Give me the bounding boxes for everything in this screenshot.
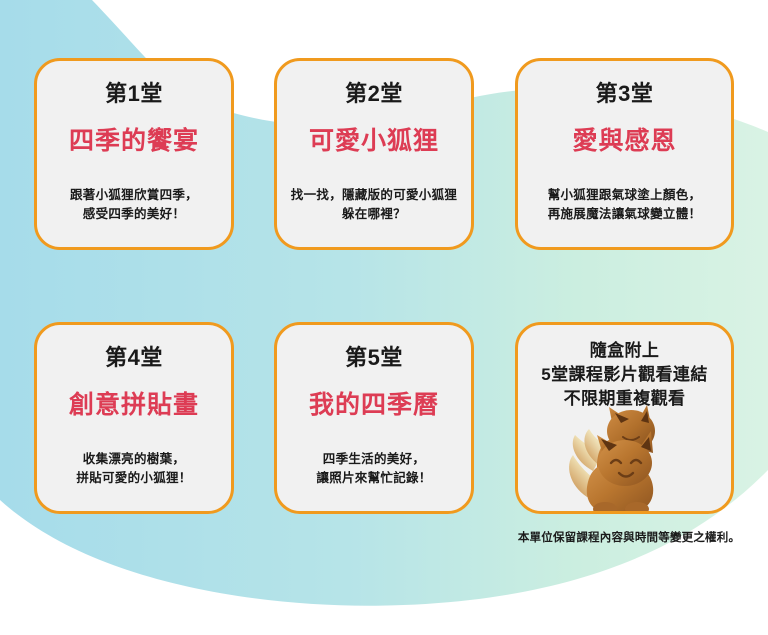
- card-2-lesson-number: 第2堂: [345, 83, 403, 105]
- disclaimer-text: 本單位保留課程內容與時間等變更之權利。: [515, 529, 743, 545]
- card-5-lesson-number: 第5堂: [345, 347, 403, 369]
- card-1-title: 四季的饗宴: [69, 127, 199, 156]
- card-3-lesson-number: 第3堂: [596, 83, 654, 105]
- course-card-1[interactable]: 第1堂 四季的饗宴 跟著小狐狸欣賞四季， 感受四季的美好！: [34, 58, 234, 250]
- course-card-4[interactable]: 第4堂 創意拼貼畫 收集漂亮的樹葉， 拼貼可愛的小狐狸！: [34, 322, 234, 514]
- card-3-title: 愛與感恩: [572, 127, 676, 156]
- card-3-description: 幫小狐狸跟氣球塗上顏色， 再施展魔法讓氣球變立體！: [548, 186, 702, 225]
- card-4-description: 收集漂亮的樹葉， 拼貼可愛的小狐狸！: [76, 450, 191, 489]
- course-card-2[interactable]: 第2堂 可愛小狐狸 找一找，隱藏版的可愛小狐狸 躲在哪裡？: [274, 58, 474, 250]
- card-5-description: 四季生活的美好， 讓照片來幫忙記錄！: [316, 450, 431, 489]
- card-1-description: 跟著小狐狸欣賞四季， 感受四季的美好！: [70, 186, 198, 225]
- bonus-card-text: 隨盒附上 5堂課程影片觀看連結 不限期重複觀看: [541, 339, 707, 411]
- card-4-title: 創意拼貼畫: [69, 391, 199, 420]
- course-card-5[interactable]: 第5堂 我的四季曆 四季生活的美好， 讓照片來幫忙記錄！: [274, 322, 474, 514]
- card-4-lesson-number: 第4堂: [105, 347, 163, 369]
- card-5-title: 我的四季曆: [309, 391, 439, 420]
- card-2-description: 找一找，隱藏版的可愛小狐狸 躲在哪裡？: [291, 186, 457, 225]
- bonus-card[interactable]: 隨盒附上 5堂課程影片觀看連結 不限期重複觀看: [515, 322, 734, 514]
- course-card-3[interactable]: 第3堂 愛與感恩 幫小狐狸跟氣球塗上顏色， 再施展魔法讓氣球變立體！: [515, 58, 734, 250]
- card-1-lesson-number: 第1堂: [105, 83, 163, 105]
- card-2-title: 可愛小狐狸: [309, 127, 439, 156]
